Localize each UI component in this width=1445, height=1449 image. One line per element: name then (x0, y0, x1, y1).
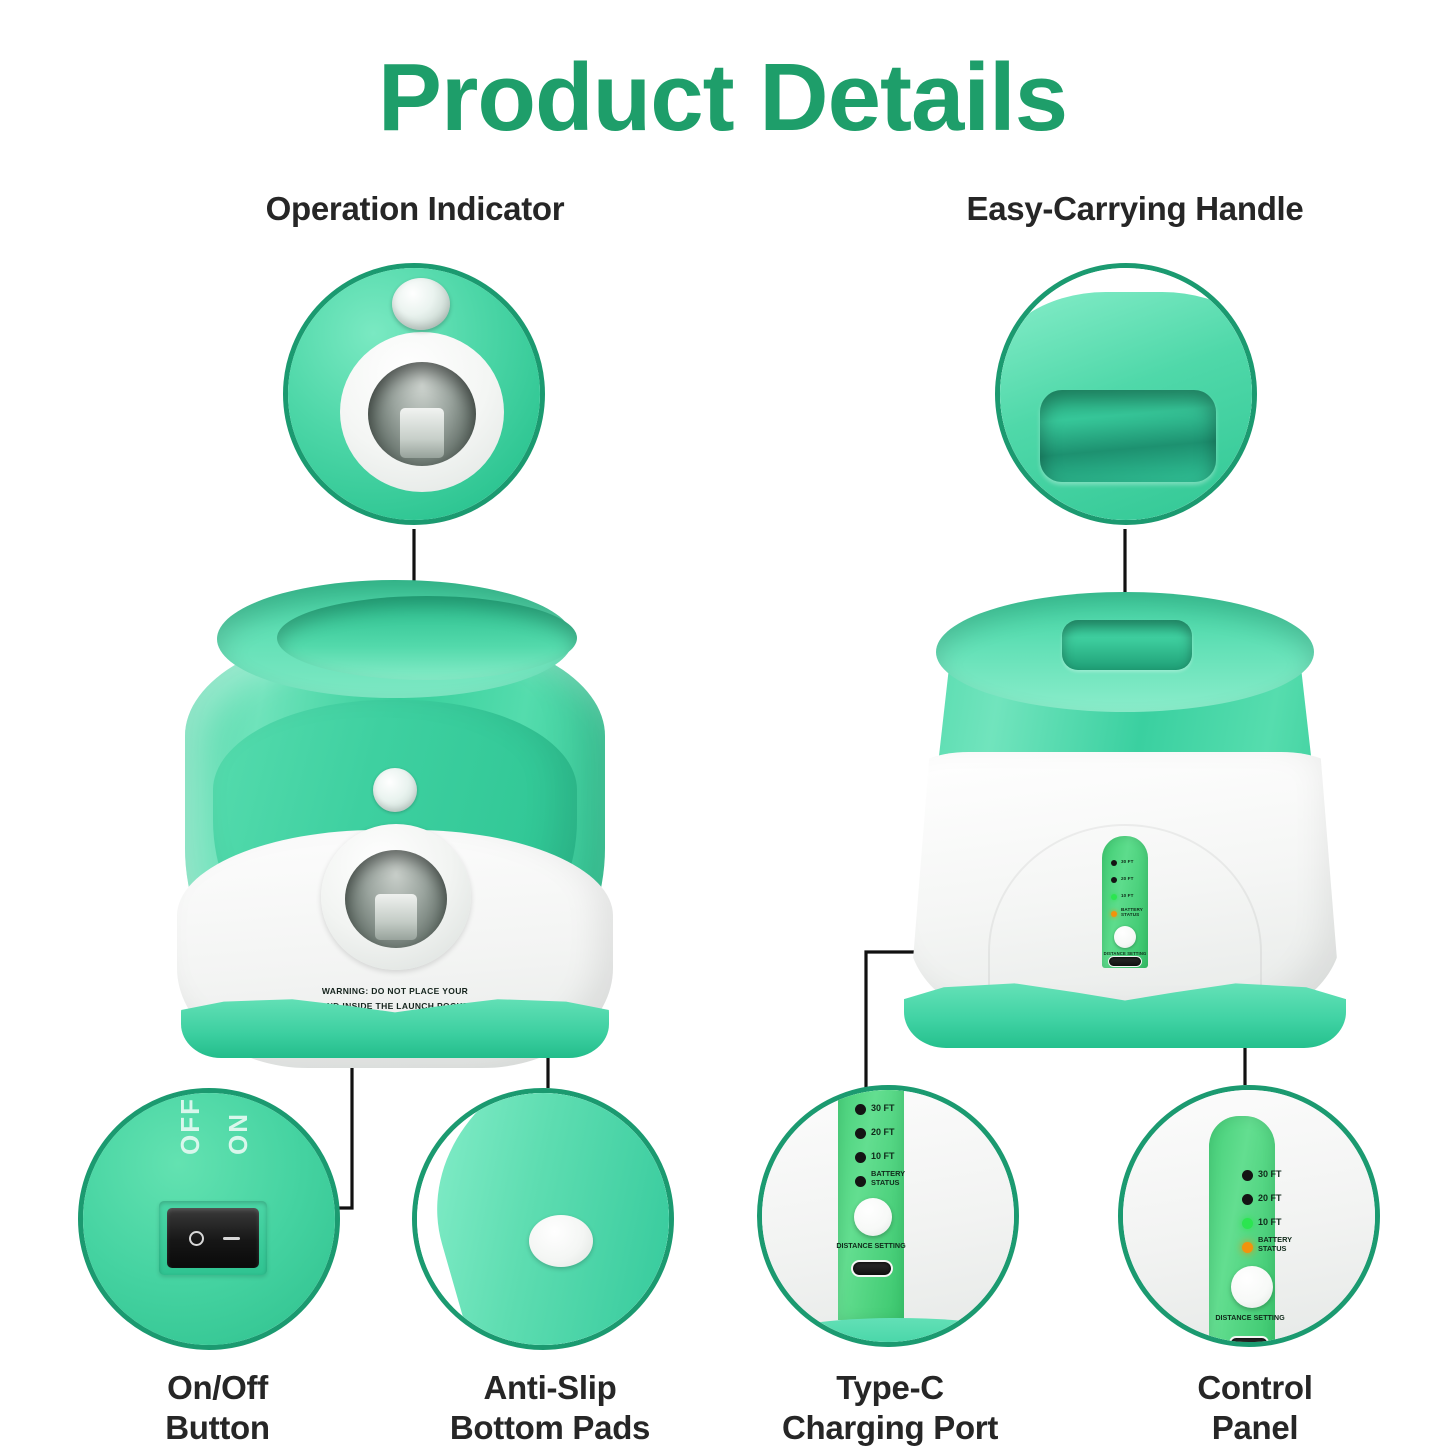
page-title: Product Details (0, 48, 1445, 149)
label-control-panel: Control Panel (1105, 1368, 1405, 1449)
battery-label-line-1: BATTERY (1258, 1235, 1292, 1244)
label-on-off-button: On/Off Button (75, 1368, 360, 1449)
led-30ft (855, 1104, 866, 1115)
callout-title-operation-indicator: Operation Indicator (165, 190, 665, 228)
inset-control-panel: 30 FT 20 FT 10 FT BATTERY STATUS DISTANC… (1118, 1085, 1380, 1347)
led-20ft (855, 1128, 866, 1139)
callout-title-easy-carrying-handle: Easy-Carrying Handle (840, 190, 1430, 228)
inset-anti-slip-pads (412, 1088, 674, 1350)
launch-arm (400, 408, 444, 458)
handle-cutout (1040, 390, 1216, 482)
led-30ft (1242, 1170, 1253, 1181)
led-label-20ft: 20 FT (1258, 1193, 1282, 1204)
warning-line-1: WARNING: DO NOT PLACE YOUR (265, 984, 525, 999)
distance-setting-button[interactable] (1114, 926, 1136, 948)
label-anti-slip-pads: Anti-Slip Bottom Pads (405, 1368, 695, 1449)
rocker-toggle[interactable] (167, 1208, 259, 1268)
battery-label-line-2: STATUS (1121, 912, 1139, 917)
launch-pocket-icon (340, 332, 504, 492)
control-panel-strip: 30 FT 20 FT 10 FT BATTERY STATUS DISTANC… (838, 1085, 904, 1320)
control-panel-strip: 30 FT 20 FT 10 FT BATTERY STATUS DISTANC… (1209, 1116, 1275, 1347)
label-anti-slip-line-2: Bottom Pads (405, 1408, 695, 1448)
led-10ft (855, 1152, 866, 1163)
launch-pocket-icon (321, 824, 471, 970)
label-control-panel-line-2: Panel (1105, 1408, 1405, 1448)
led-label-10ft: 10 FT (1258, 1217, 1282, 1228)
led-label-20ft: 20 FT (871, 1127, 895, 1138)
switch-on-symbol (223, 1237, 240, 1240)
led-label-20ft: 20 FT (1121, 876, 1134, 881)
led-battery-status (1242, 1242, 1253, 1253)
led-label-10ft: 10 FT (871, 1151, 895, 1162)
launch-pocket-opening (345, 850, 447, 948)
product-rear-view: 30 FT 20 FT 10 FT BATTERY STATUS DISTANC… (910, 592, 1340, 1062)
switch-off-symbol (189, 1231, 204, 1246)
led-battery-status (855, 1176, 866, 1187)
inset-on-off-button: OFF ON (78, 1088, 340, 1350)
label-anti-slip-line-1: Anti-Slip (405, 1368, 695, 1408)
inset-operation-indicator (283, 263, 545, 525)
led-label-battery-status: BATTERY STATUS (871, 1170, 905, 1188)
led-label-battery-status: BATTERY STATUS (1258, 1236, 1292, 1254)
motion-sensor-icon (373, 768, 417, 812)
infographic-stage: Product Details Operation Indicator Easy… (0, 0, 1445, 1445)
front-bowl-inner (277, 596, 577, 680)
launch-arm (375, 894, 417, 940)
label-type-c-line-2: Charging Port (740, 1408, 1040, 1448)
led-20ft (1111, 877, 1117, 883)
led-30ft (1111, 860, 1117, 866)
label-on-off-line-1: On/Off (75, 1368, 360, 1408)
control-panel[interactable]: 30 FT 20 FT 10 FT BATTERY STATUS DISTANC… (1102, 836, 1148, 968)
usb-c-icon[interactable] (1108, 956, 1142, 967)
front-bowl-rim (217, 580, 573, 698)
label-type-c-port: Type-C Charging Port (740, 1368, 1040, 1449)
usb-c-icon[interactable] (851, 1260, 893, 1277)
battery-label-line-2: STATUS (1258, 1244, 1286, 1253)
led-10ft (1111, 894, 1117, 900)
led-label-battery-status: BATTERY STATUS (1121, 907, 1143, 918)
distance-setting-label: DISTANCE SETTING (830, 1242, 912, 1251)
distance-setting-button[interactable] (854, 1198, 892, 1236)
led-10ft (1242, 1218, 1253, 1229)
switch-off-label: OFF (175, 1097, 206, 1155)
inset-type-c-port: 30 FT 20 FT 10 FT BATTERY STATUS DISTANC… (757, 1085, 1019, 1347)
motion-sensor-icon (392, 278, 450, 330)
led-20ft (1242, 1194, 1253, 1205)
led-label-10ft: 10 FT (1121, 893, 1134, 898)
switch-on-label: ON (223, 1112, 254, 1155)
led-battery-status (1111, 911, 1117, 917)
battery-label-line-1: BATTERY (871, 1169, 905, 1178)
launch-pocket-opening (368, 362, 476, 466)
battery-label-line-1: BATTERY (1121, 907, 1143, 912)
battery-label-line-2: STATUS (871, 1178, 899, 1187)
led-label-30ft: 30 FT (871, 1103, 895, 1114)
product-front-view: WARNING: DO NOT PLACE YOUR HAND INSIDE T… (185, 580, 605, 1070)
label-control-panel-line-1: Control (1105, 1368, 1405, 1408)
usb-c-icon[interactable] (1229, 1336, 1269, 1347)
handle-icon (1062, 620, 1192, 670)
label-type-c-line-1: Type-C (740, 1368, 1040, 1408)
led-label-30ft: 30 FT (1258, 1169, 1282, 1180)
handle-icon (995, 292, 1257, 525)
rubber-pad-icon (529, 1215, 593, 1267)
power-switch-icon[interactable] (159, 1201, 267, 1275)
distance-setting-button[interactable] (1231, 1266, 1273, 1308)
led-label-30ft: 30 FT (1121, 859, 1134, 864)
label-on-off-line-2: Button (75, 1408, 360, 1448)
distance-setting-label: DISTANCE SETTING (1203, 1314, 1297, 1323)
inset-easy-carrying-handle (995, 263, 1257, 525)
